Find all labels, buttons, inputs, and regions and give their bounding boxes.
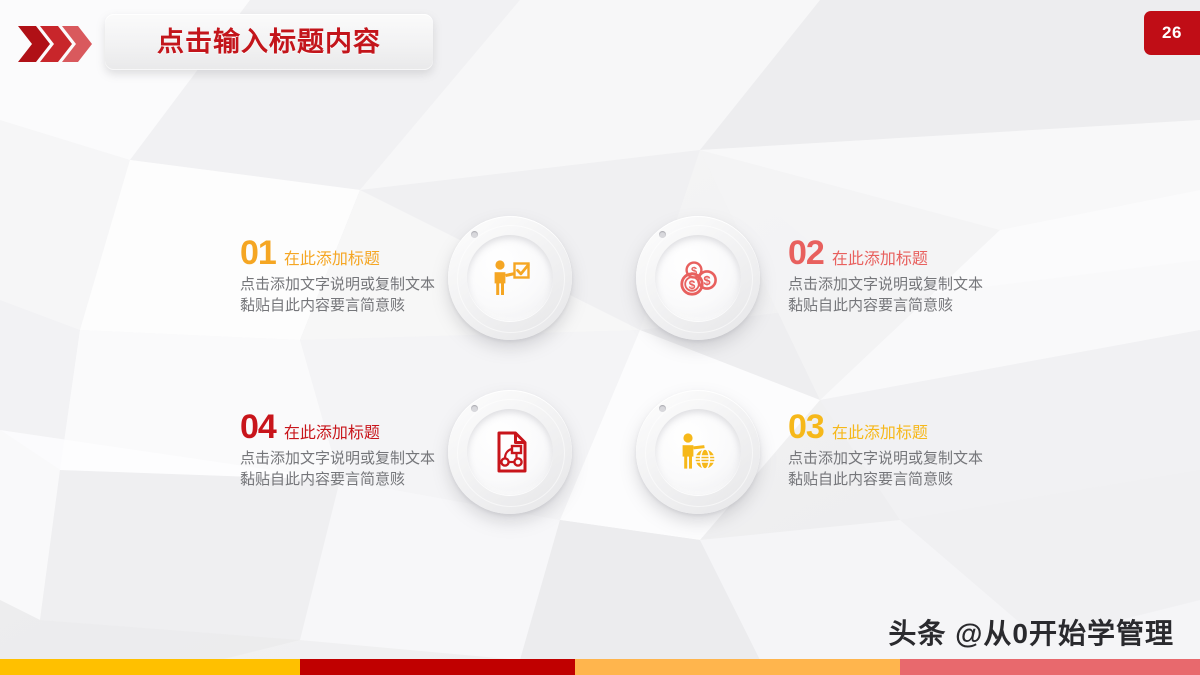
svg-text:$: $ <box>703 273 711 288</box>
bar-segment-4 <box>900 659 1200 675</box>
icon-circle-01-inner <box>467 235 553 321</box>
icon-circle-03[interactable] <box>636 390 760 514</box>
feature-item-01-number: 01 <box>240 236 276 270</box>
title-plate: 点击输入标题内容 <box>105 14 433 70</box>
feature-item-03-body: 点击添加文字说明或复制文本黏贴自此内容要言简意赅 <box>788 448 993 491</box>
slide-canvas: 点击输入标题内容 26 01 在此添加标题 点击添加文字说明或复制文本黏贴自此内… <box>0 0 1200 675</box>
circle-screw-dot-03 <box>659 405 666 412</box>
feature-item-01-title: 在此添加标题 <box>284 252 380 268</box>
dollar-coins-icon: $ $ $ <box>674 254 722 302</box>
feature-item-01-body: 点击添加文字说明或复制文本黏贴自此内容要言简意赅 <box>240 274 445 317</box>
bar-segment-1 <box>0 659 300 675</box>
feature-item-03[interactable]: 03 在此添加标题 点击添加文字说明或复制文本黏贴自此内容要言简意赅 <box>788 410 1056 491</box>
page-title: 点击输入标题内容 <box>157 29 381 56</box>
feature-item-03-title: 在此添加标题 <box>832 426 928 442</box>
feature-item-02[interactable]: 02 在此添加标题 点击添加文字说明或复制文本黏贴自此内容要言简意赅 <box>788 236 1056 317</box>
feature-item-02-number: 02 <box>788 236 824 270</box>
feature-item-04-number: 04 <box>240 410 276 444</box>
feature-item-02-title: 在此添加标题 <box>832 252 928 268</box>
presenter-checklist-icon <box>486 254 534 302</box>
feature-item-04-body: 点击添加文字说明或复制文本黏贴自此内容要言简意赅 <box>240 448 445 491</box>
svg-text:$: $ <box>689 278 696 292</box>
presenter-globe-icon <box>674 428 722 476</box>
circle-screw-dot-01 <box>471 231 478 238</box>
bar-segment-2 <box>300 659 575 675</box>
slide-header: 点击输入标题内容 26 <box>0 0 1200 92</box>
icon-circle-04-inner <box>467 409 553 495</box>
watermark-text: 头条 @从0开始学管理 <box>888 612 1174 652</box>
bar-segment-3 <box>575 659 900 675</box>
page-number-badge: 26 <box>1144 11 1200 55</box>
feature-item-03-number: 03 <box>788 410 824 444</box>
document-flowchart-icon <box>487 429 533 475</box>
page-number-text: 26 <box>1162 23 1182 43</box>
icon-circle-01[interactable] <box>448 216 572 340</box>
circle-screw-dot-04 <box>471 405 478 412</box>
icon-circle-02-inner: $ $ $ <box>655 235 741 321</box>
icon-circle-04[interactable] <box>448 390 572 514</box>
feature-item-03-head: 03 在此添加标题 <box>788 410 1056 444</box>
icon-circle-03-inner <box>655 409 741 495</box>
content-area: 01 在此添加标题 点击添加文字说明或复制文本黏贴自此内容要言简意赅 02 在此… <box>0 0 1200 675</box>
feature-item-02-head: 02 在此添加标题 <box>788 236 1056 270</box>
chevron-right-triple-icon <box>16 22 96 66</box>
bottom-color-bar <box>0 659 1200 675</box>
feature-item-02-body: 点击添加文字说明或复制文本黏贴自此内容要言简意赅 <box>788 274 993 317</box>
circle-screw-dot-02 <box>659 231 666 238</box>
icon-circle-02[interactable]: $ $ $ <box>636 216 760 340</box>
feature-item-04-title: 在此添加标题 <box>284 426 380 442</box>
